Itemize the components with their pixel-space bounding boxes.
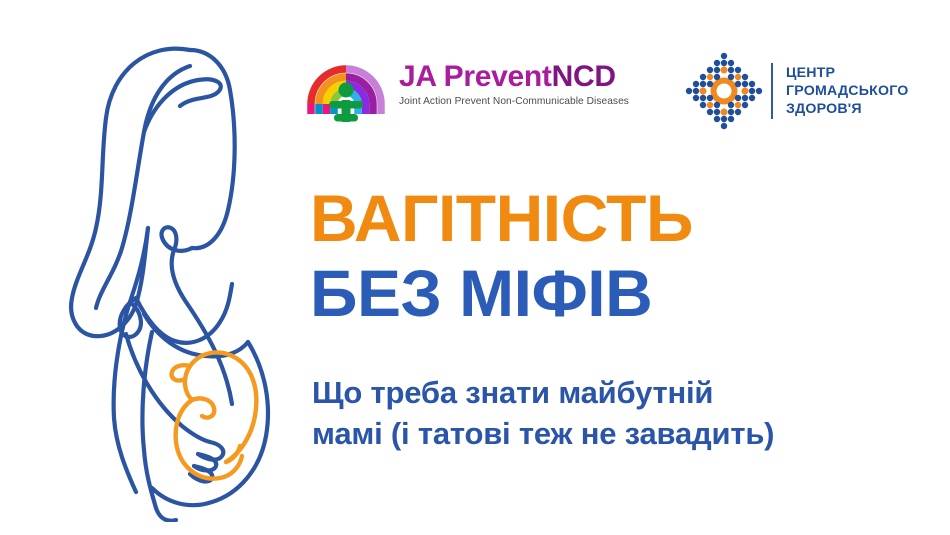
phc-line-1: ЦЕНТР [786, 64, 908, 82]
headline-line-1: ВАГІТНІСТЬ [310, 186, 910, 251]
subtitle-line-2: мамі (і татові теж не завадить) [312, 413, 912, 454]
ja-preventncd-logo: JA PreventNCD Joint Action Prevent Non-C… [305, 44, 629, 124]
logo-row: JA PreventNCD Joint Action Prevent Non-C… [305, 44, 925, 140]
ja-title-part-2: NCD [552, 60, 616, 93]
subtitle-block: Що треба знати майбутній мамі (і татові … [312, 372, 912, 454]
headline-line-2: БЕЗ МІФІВ [310, 261, 910, 326]
diamond-dots-icon [681, 46, 767, 136]
public-health-center-logo: ЦЕНТР ГРОМАДСЬКОГО ЗДОРОВ'Я [681, 46, 908, 136]
phc-line-2: ГРОМАДСЬКОГО [786, 82, 908, 100]
headline-block: ВАГІТНІСТЬ БЕЗ МІФІВ [310, 186, 910, 325]
ja-preventncd-title: JA PreventNCD [399, 61, 616, 93]
rainbow-arc-person-icon [305, 44, 387, 124]
phc-line-3: ЗДОРОВ'Я [786, 100, 908, 118]
pregnant-woman-illustration [40, 22, 320, 522]
dot-grid [686, 53, 762, 129]
poster-canvas: JA PreventNCD Joint Action Prevent Non-C… [0, 0, 950, 535]
ja-preventncd-tagline: Joint Action Prevent Non-Communicable Di… [399, 96, 629, 107]
ja-preventncd-wordmark: JA PreventNCD Joint Action Prevent Non-C… [399, 61, 629, 107]
subtitle-line-1: Що треба знати майбутній [312, 372, 912, 413]
public-health-center-wordmark: ЦЕНТР ГРОМАДСЬКОГО ЗДОРОВ'Я [786, 64, 908, 119]
logo-divider [771, 63, 773, 119]
ja-title-part-1: JA Prevent [399, 60, 552, 93]
